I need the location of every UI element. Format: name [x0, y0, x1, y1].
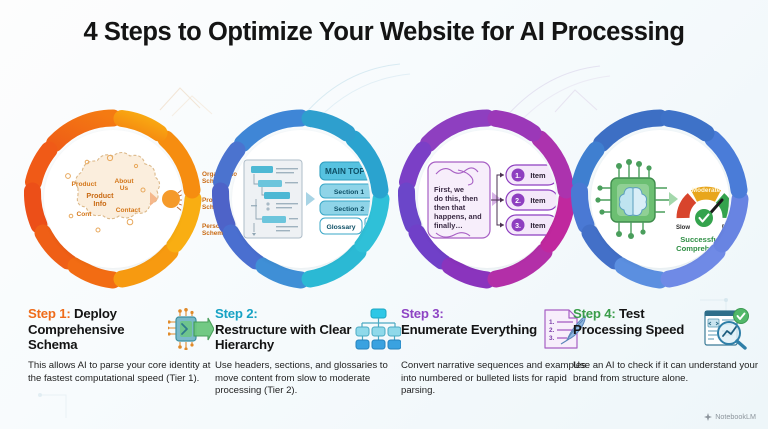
- circle-3-content: First, we do this, then then that happen…: [418, 130, 556, 268]
- circle-1-schema-labels: Organization Schema Product Schema Perso…: [44, 130, 219, 268]
- steps-text-row: Step 1: Deploy Comprehensive Schema This…: [0, 306, 768, 416]
- circle-1-schema: Product About Us Product Info Cont Conta…: [18, 104, 208, 294]
- step-card-2: Step 2: Restructure with Clear Hierarchy…: [215, 306, 401, 398]
- svg-text:1.: 1.: [515, 173, 521, 180]
- step-2-title: Restructure with Clear Hierarchy: [215, 322, 351, 353]
- svg-text:2.: 2.: [515, 198, 521, 205]
- svg-text:Item: Item: [530, 196, 546, 205]
- circle-3-enumerate: First, we do this, then then that happen…: [392, 104, 582, 294]
- step-2-number: Step 2:: [215, 306, 258, 321]
- step-2-description: Use headers, sections, and glossaries to…: [215, 360, 401, 398]
- watermark: NotebookLM: [704, 412, 756, 421]
- svg-text:Slow: Slow: [676, 225, 690, 231]
- step-3-description: Convert narrative sequences and examples…: [401, 360, 587, 398]
- svg-text:Section 1: Section 1: [334, 189, 364, 196]
- svg-text:2.: 2.: [549, 327, 555, 334]
- notebooklm-sparkle-icon: [704, 413, 712, 421]
- hierarchy-tree-icon: [355, 308, 401, 352]
- svg-text:then that: then that: [434, 203, 466, 212]
- circuit-chip-arrow-icon: [168, 308, 214, 352]
- circle-4-content: Moderate Slow Fast Successful AI Compreh…: [591, 130, 729, 268]
- svg-text:Glossary: Glossary: [326, 224, 355, 231]
- page-title: 4 Steps to Optimize Your Website for AI …: [0, 18, 768, 47]
- svg-text:3.: 3.: [549, 335, 555, 342]
- step-card-4: Step 4: Test Processing Speed Use an AI …: [573, 306, 759, 385]
- svg-text:Item: Item: [530, 171, 546, 180]
- svg-text:First, we: First, we: [434, 185, 464, 194]
- circle-2-hierarchy: MAIN TOPIC Section 1 Section 2 Glossary: [206, 104, 396, 294]
- step-3-title: Enumerate Everything: [401, 322, 537, 337]
- circle-4-speed: Moderate Slow Fast Successful AI Compreh…: [565, 104, 755, 294]
- step-4-number: Step 4:: [573, 306, 616, 321]
- document-magnifier-check-icon: [703, 308, 749, 352]
- step-4-description: Use an AI to check if it can understand …: [573, 360, 759, 385]
- svg-text:Moderate: Moderate: [692, 187, 721, 194]
- svg-text:1.: 1.: [549, 319, 555, 326]
- steps-circles-row: Product About Us Product Info Cont Conta…: [0, 104, 768, 294]
- step-card-1: Step 1: Deploy Comprehensive Schema This…: [28, 306, 214, 385]
- svg-text:Section 2: Section 2: [334, 206, 364, 213]
- step-1-number: Step 1:: [28, 306, 71, 321]
- svg-text:happens, and: happens, and: [434, 212, 482, 221]
- svg-text:MAIN TOPIC: MAIN TOPIC: [325, 167, 370, 176]
- step-3-number: Step 3:: [401, 306, 444, 321]
- watermark-label: NotebookLM: [715, 412, 756, 421]
- svg-text:Item: Item: [530, 221, 546, 230]
- svg-text:3.: 3.: [515, 223, 521, 230]
- svg-text:do this, then: do this, then: [434, 194, 478, 203]
- circle-2-content: MAIN TOPIC Section 1 Section 2 Glossary: [232, 130, 370, 268]
- step-card-3: Step 3: Enumerate Everything Convert nar…: [401, 306, 587, 398]
- step-1-description: This allows AI to parse your core identi…: [28, 360, 214, 385]
- svg-text:finally…: finally…: [434, 221, 463, 230]
- brain-chip-icon: [595, 159, 669, 239]
